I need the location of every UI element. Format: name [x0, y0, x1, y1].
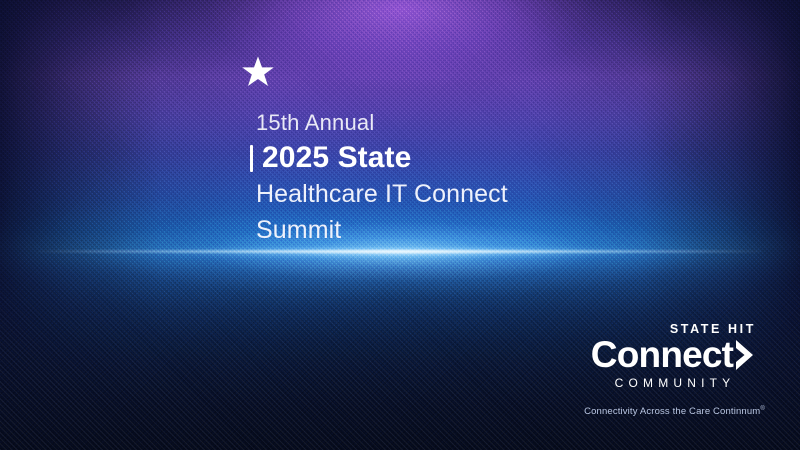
- event-banner: 15th Annual 2025 State Healthcare IT Con…: [0, 0, 800, 450]
- logo-wordmark-connect: Connect: [591, 335, 733, 375]
- registered-mark: ®: [760, 406, 765, 412]
- logo-community-label: COMMUNITY: [565, 376, 780, 391]
- hero-title-block: 15th Annual 2025 State Healthcare IT Con…: [256, 108, 676, 247]
- chevron-right-icon: [734, 339, 754, 371]
- logo-tagline-text: Connectivity Across the Care Continnum: [584, 406, 760, 417]
- brand-logo-lockup: STATE HIT Connect COMMUNITY Connectivity…: [565, 322, 780, 418]
- event-title-line-3: Summit: [256, 214, 676, 247]
- event-title-primary: 2025 State: [262, 141, 411, 175]
- title-vertical-rule: [250, 145, 253, 172]
- event-kicker: 15th Annual: [256, 108, 676, 138]
- event-title-primary-row: 2025 State: [250, 141, 676, 175]
- logo-wordmark-row: Connect: [565, 335, 780, 375]
- star-icon: [241, 55, 275, 89]
- event-title-line-2: Healthcare IT Connect: [256, 178, 676, 211]
- logo-tagline: Connectivity Across the Care Continnum®: [565, 403, 780, 418]
